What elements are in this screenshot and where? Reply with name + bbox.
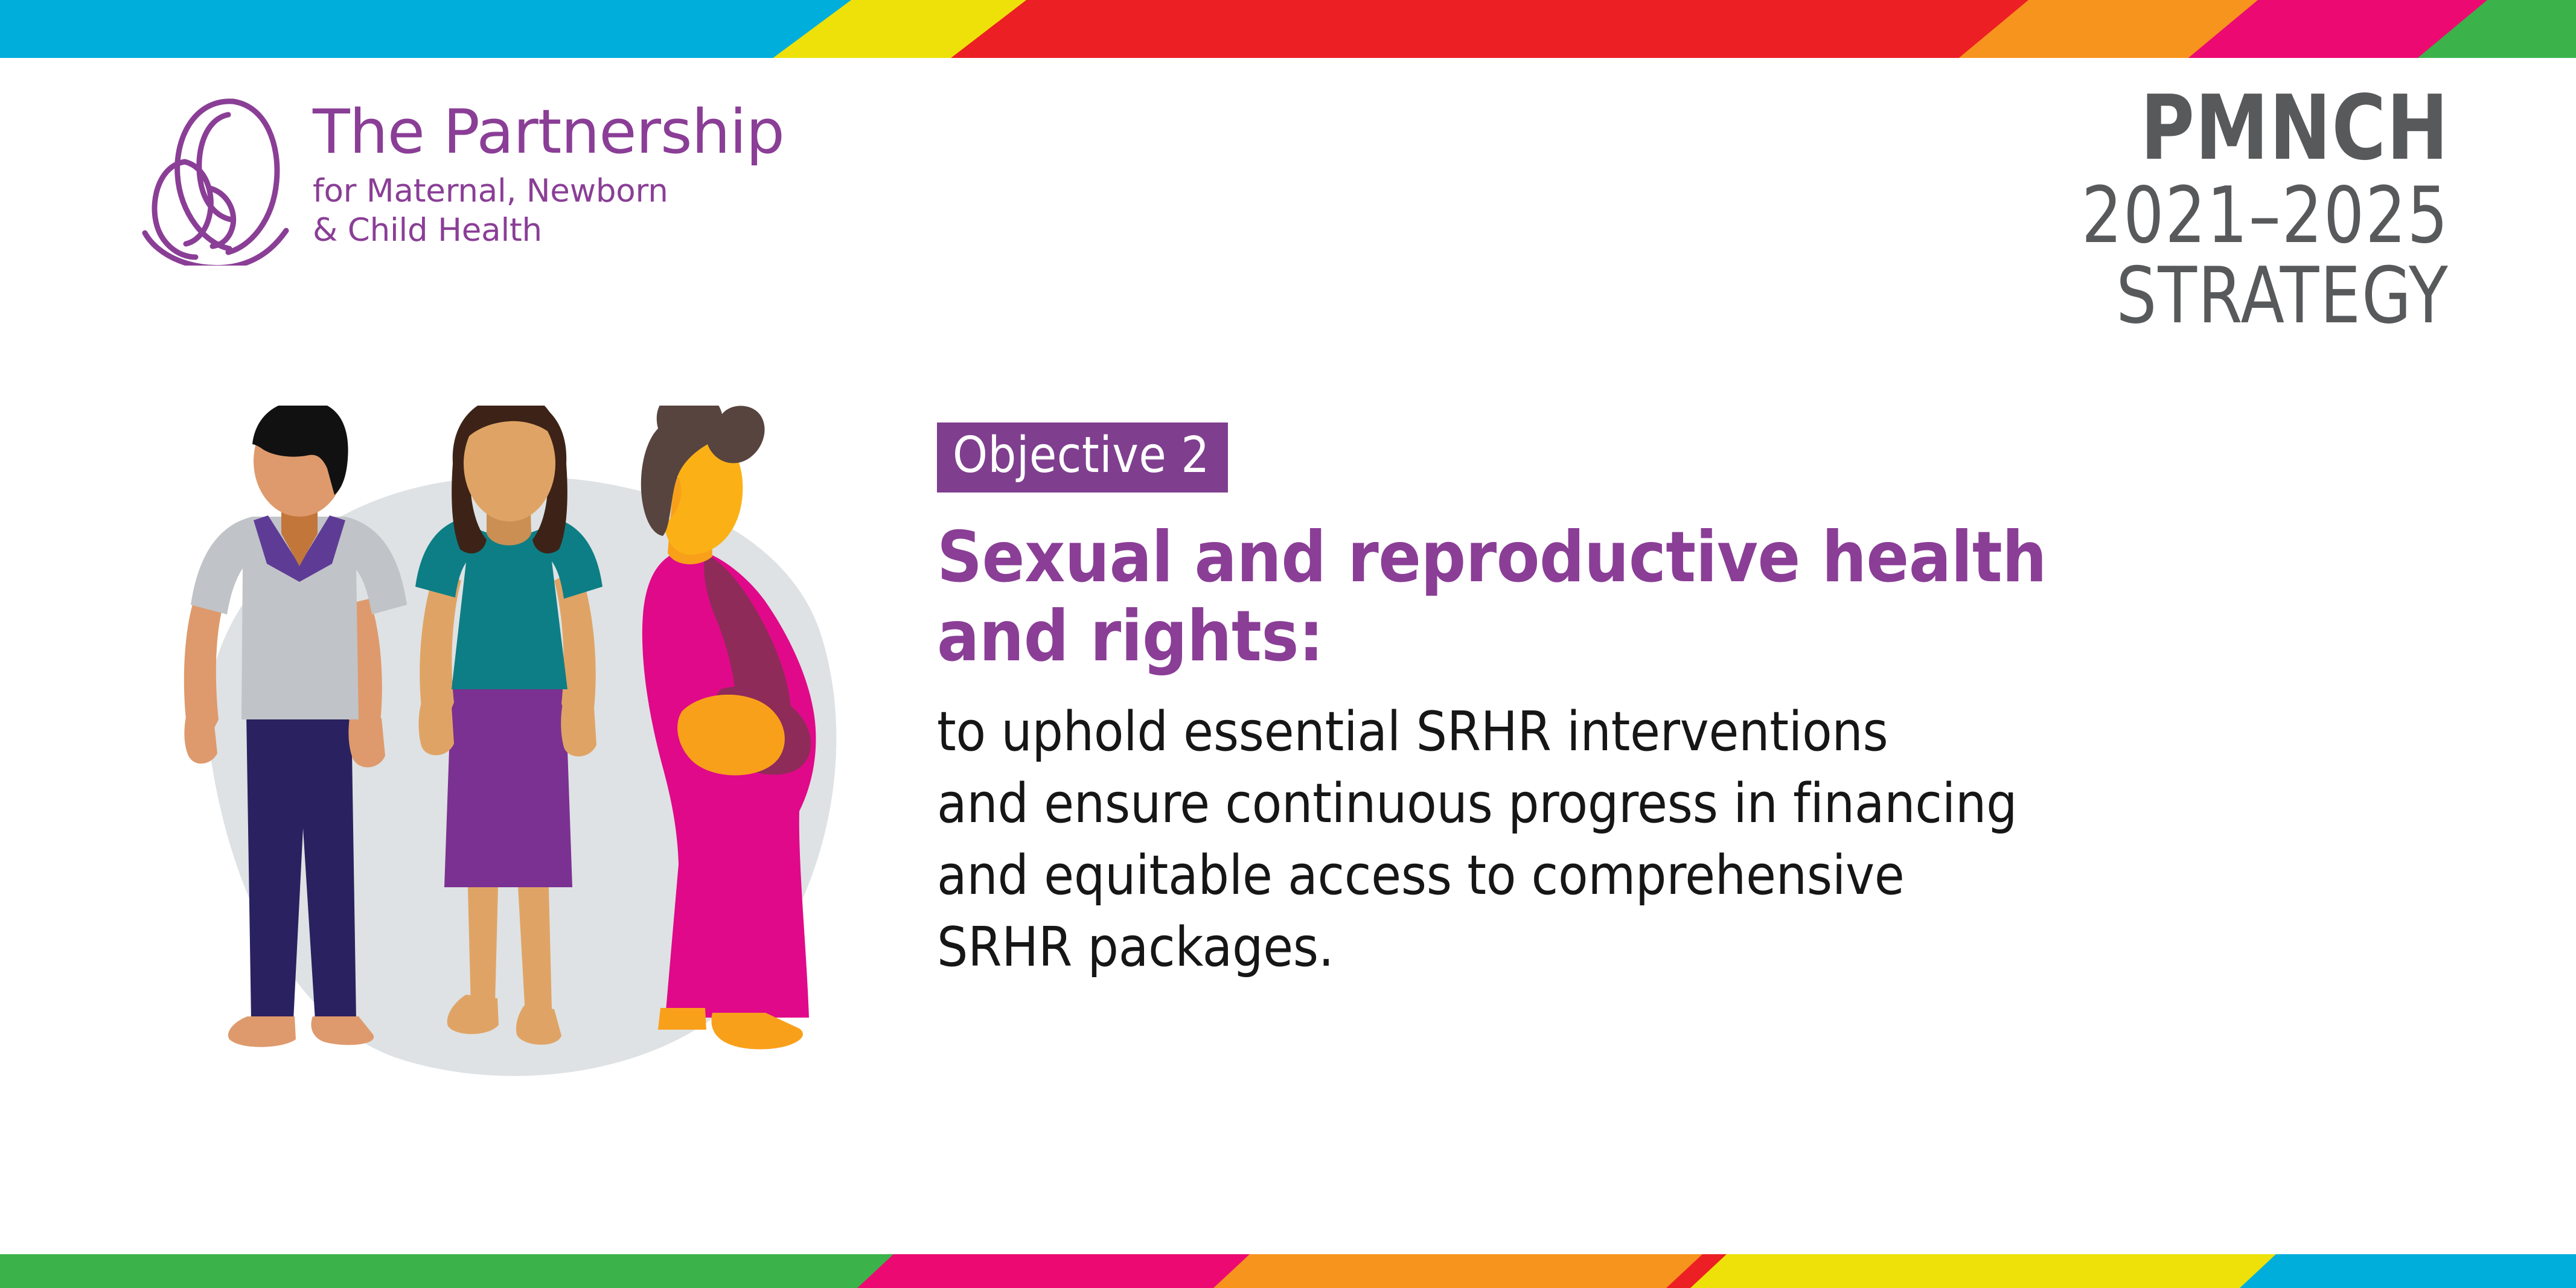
objective-badge: Objective 2 (937, 422, 1228, 493)
stripe-cyan (2240, 1254, 2576, 1288)
woman-hand-right (561, 704, 596, 756)
woman-skirt (444, 681, 572, 887)
strategy-years: 2021–2025 (2082, 176, 2449, 256)
logo-wordmark: The Partnership for Maternal, Newborn & … (313, 91, 784, 250)
top-color-stripe-band (0, 0, 2576, 60)
objective-body-line-3: and equitable access to comprehensive (937, 840, 2386, 912)
man-foot-left (228, 1016, 296, 1047)
stripe-red (948, 0, 2071, 60)
stripe-bottom-trim (0, 58, 2576, 60)
stripe-pink (857, 1254, 1262, 1288)
stripe-orange (1213, 1254, 1715, 1288)
stripe-top-trim (0, 1228, 2576, 1255)
strategy-word: STRATEGY (2082, 256, 2449, 336)
three-people-family-illustration (151, 406, 881, 1136)
stripe-green (0, 1254, 906, 1288)
bottom-color-stripe-band (0, 1228, 2576, 1288)
pregnant-shoe-front (711, 1013, 803, 1049)
logo-line-the-partnership: The Partnership (313, 101, 784, 162)
strategy-card: The Partnership for Maternal, Newborn & … (0, 0, 2576, 1288)
man-hand-left (184, 717, 217, 764)
objective-body-line-4: SRHR packages. (937, 912, 2386, 984)
logo-line-for-maternal-newborn: for Maternal, Newborn (313, 172, 784, 211)
objective-heading-line-2: and rights: (937, 597, 2386, 676)
woman-foot-right (516, 1006, 561, 1045)
woman-hand-left (419, 703, 455, 755)
strategy-acronym: PMNCH (2082, 84, 2449, 172)
objective-heading-line-1: Sexual and reproductive health (937, 518, 2386, 597)
strategy-lockup: PMNCH 2021–2025 STRATEGY (2050, 84, 2449, 336)
objective-body-line-1: to uphold essential SRHR interventions (937, 697, 2386, 768)
man-hand-right (348, 715, 385, 767)
objective-body-line-2: and ensure continuous progress in financ… (937, 768, 2386, 840)
logo-line-and-child-health: & Child Health (313, 211, 784, 250)
objective-body: to uphold essential SRHR interventions a… (937, 697, 2386, 983)
stripe-yellow (1690, 1254, 2288, 1288)
pmnch-logo: The Partnership for Maternal, Newborn & … (138, 91, 784, 266)
mother-and-child-swirl-icon (138, 91, 299, 266)
pregnant-shoe-back (658, 1008, 706, 1030)
objective-content: Objective 2 Sexual and reproductive heal… (937, 422, 2386, 983)
stripe-cyan (0, 0, 893, 60)
objective-heading: Sexual and reproductive health and right… (937, 518, 2386, 676)
